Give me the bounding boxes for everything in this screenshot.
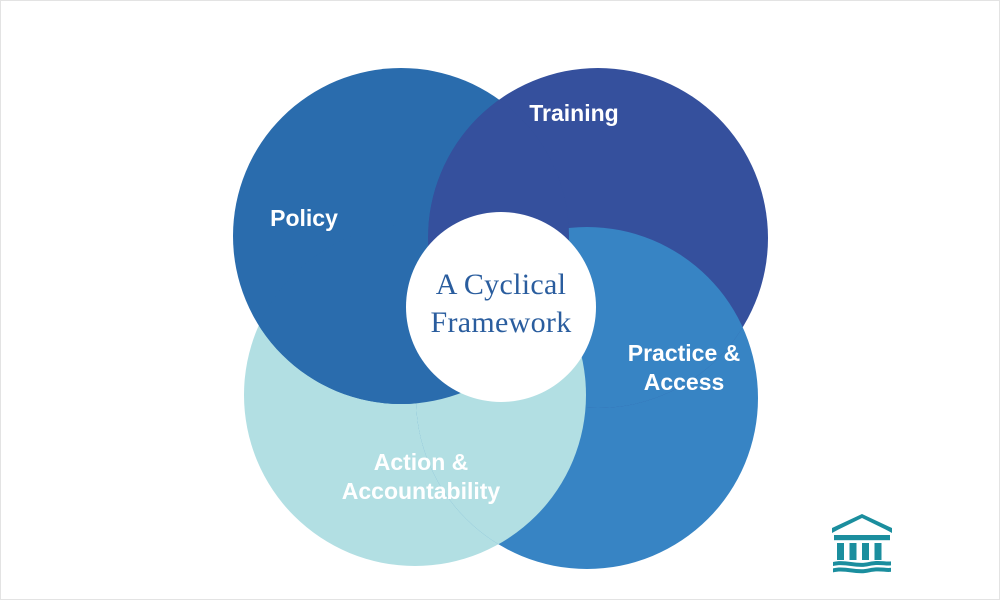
label-policy: Policy [270,205,338,231]
label-training: Training [529,100,618,126]
classical-building-logo [829,509,895,575]
diagram-canvas: Policy Training Practice &Access Action … [0,0,1000,600]
